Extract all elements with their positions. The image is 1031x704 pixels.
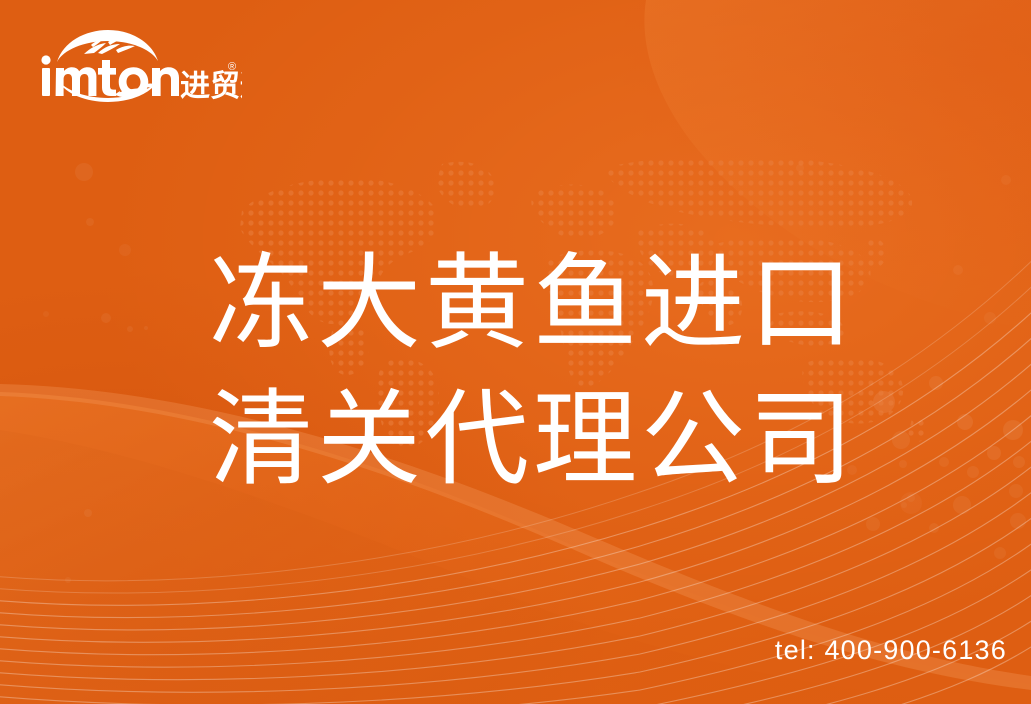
page-title: 冻大黄鱼进口 清关代理公司 <box>209 236 869 508</box>
contact-phone[interactable]: tel: 400-900-6136 <box>775 635 1007 666</box>
headline-line-2: 清关代理公司 <box>209 372 869 508</box>
headline-line-1: 冻大黄鱼进口 <box>209 236 869 372</box>
brand-logo[interactable]: 进贸通 ® <box>32 28 242 104</box>
logo-chinese-name: 进贸通 <box>180 69 242 104</box>
logo-trademark: ® <box>228 61 236 73</box>
logo-wordmark <box>41 55 179 96</box>
promo-banner: 进贸通 ® 冻大黄鱼进口 清关代理公司 tel: 400-900-6136 <box>0 0 1031 704</box>
